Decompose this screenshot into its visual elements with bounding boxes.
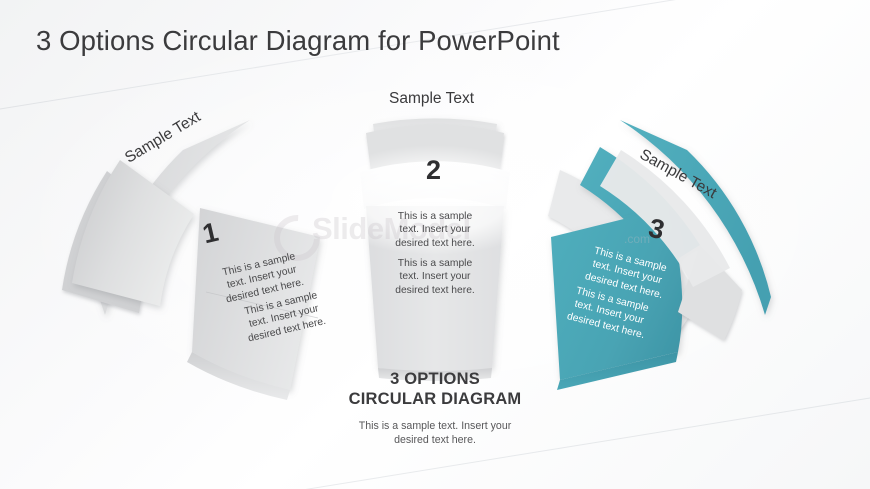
segment-2-number: 2 [426,155,441,186]
slide-canvas: 3 Options Circular Diagram for PowerPoin… [0,0,870,489]
segment-2-body-1: This is a sample text. Insert your desir… [375,210,495,250]
segment-2-label: Sample Text [389,90,474,108]
segment-2-body-2: This is a sample text. Insert your desir… [375,257,495,297]
